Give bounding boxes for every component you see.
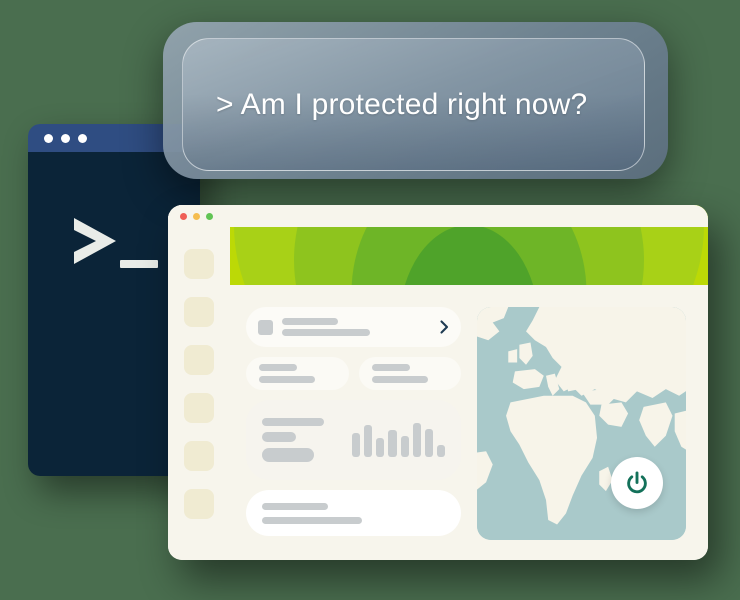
small-card-row	[246, 357, 461, 390]
content-left-column	[246, 307, 461, 540]
world-map-icon	[477, 307, 686, 540]
browser-titlebar[interactable]	[168, 205, 708, 227]
bar-chart-bar	[437, 445, 445, 457]
browser-window[interactable]	[168, 205, 708, 560]
sidebar-item-5[interactable]	[184, 441, 214, 471]
maximize-button[interactable]	[206, 213, 213, 220]
chat-bubble-message: > Am I protected right now?	[216, 88, 587, 122]
bar-chart-bar	[401, 436, 409, 457]
placeholder-bar	[262, 432, 296, 442]
sidebar-item-4[interactable]	[184, 393, 214, 423]
sidebar-item-3[interactable]	[184, 345, 214, 375]
primary-card-placeholders	[282, 318, 430, 336]
bar-chart-bar	[352, 433, 360, 457]
small-card-1[interactable]	[246, 357, 349, 390]
placeholder-bar	[259, 376, 315, 383]
browser-sidebar[interactable]	[168, 227, 230, 560]
square-icon	[258, 320, 273, 335]
placeholder-bar	[282, 318, 338, 325]
placeholder-bar	[262, 503, 328, 510]
power-button[interactable]	[611, 457, 663, 509]
world-map-panel[interactable]	[477, 307, 686, 540]
minimize-button[interactable]	[193, 213, 200, 220]
browser-content	[230, 285, 708, 560]
bar-chart-bar	[364, 425, 372, 457]
sidebar-item-6[interactable]	[184, 489, 214, 519]
terminal-dot-2[interactable]	[61, 134, 70, 143]
small-card-2[interactable]	[359, 357, 462, 390]
sidebar-item-1[interactable]	[184, 249, 214, 279]
placeholder-bar	[259, 364, 297, 371]
bar-chart-bar	[425, 429, 433, 457]
chat-bubble[interactable]: > Am I protected right now?	[182, 38, 645, 171]
placeholder-bar	[372, 376, 428, 383]
chevron-right-icon[interactable]	[439, 320, 449, 334]
sidebar-item-2[interactable]	[184, 297, 214, 327]
terminal-dot-3[interactable]	[78, 134, 87, 143]
terminal-dot-1[interactable]	[44, 134, 53, 143]
power-icon	[624, 470, 650, 496]
placeholder-bar	[262, 517, 362, 524]
chart-card-placeholders	[262, 418, 342, 462]
bar-chart-bar	[388, 430, 396, 457]
placeholder-bar	[262, 418, 324, 426]
screenshot-root: > Am I protected right now?	[0, 0, 740, 600]
placeholder-bar	[282, 329, 370, 336]
chart-card[interactable]	[246, 400, 461, 480]
bottom-card[interactable]	[246, 490, 461, 536]
bar-chart-bar	[376, 438, 384, 457]
placeholder-bar	[372, 364, 410, 371]
close-button[interactable]	[180, 213, 187, 220]
primary-card[interactable]	[246, 307, 461, 347]
placeholder-bar	[262, 448, 314, 462]
bar-chart	[352, 423, 445, 457]
bar-chart-bar	[413, 423, 421, 457]
terminal-cursor-icon	[120, 260, 158, 268]
